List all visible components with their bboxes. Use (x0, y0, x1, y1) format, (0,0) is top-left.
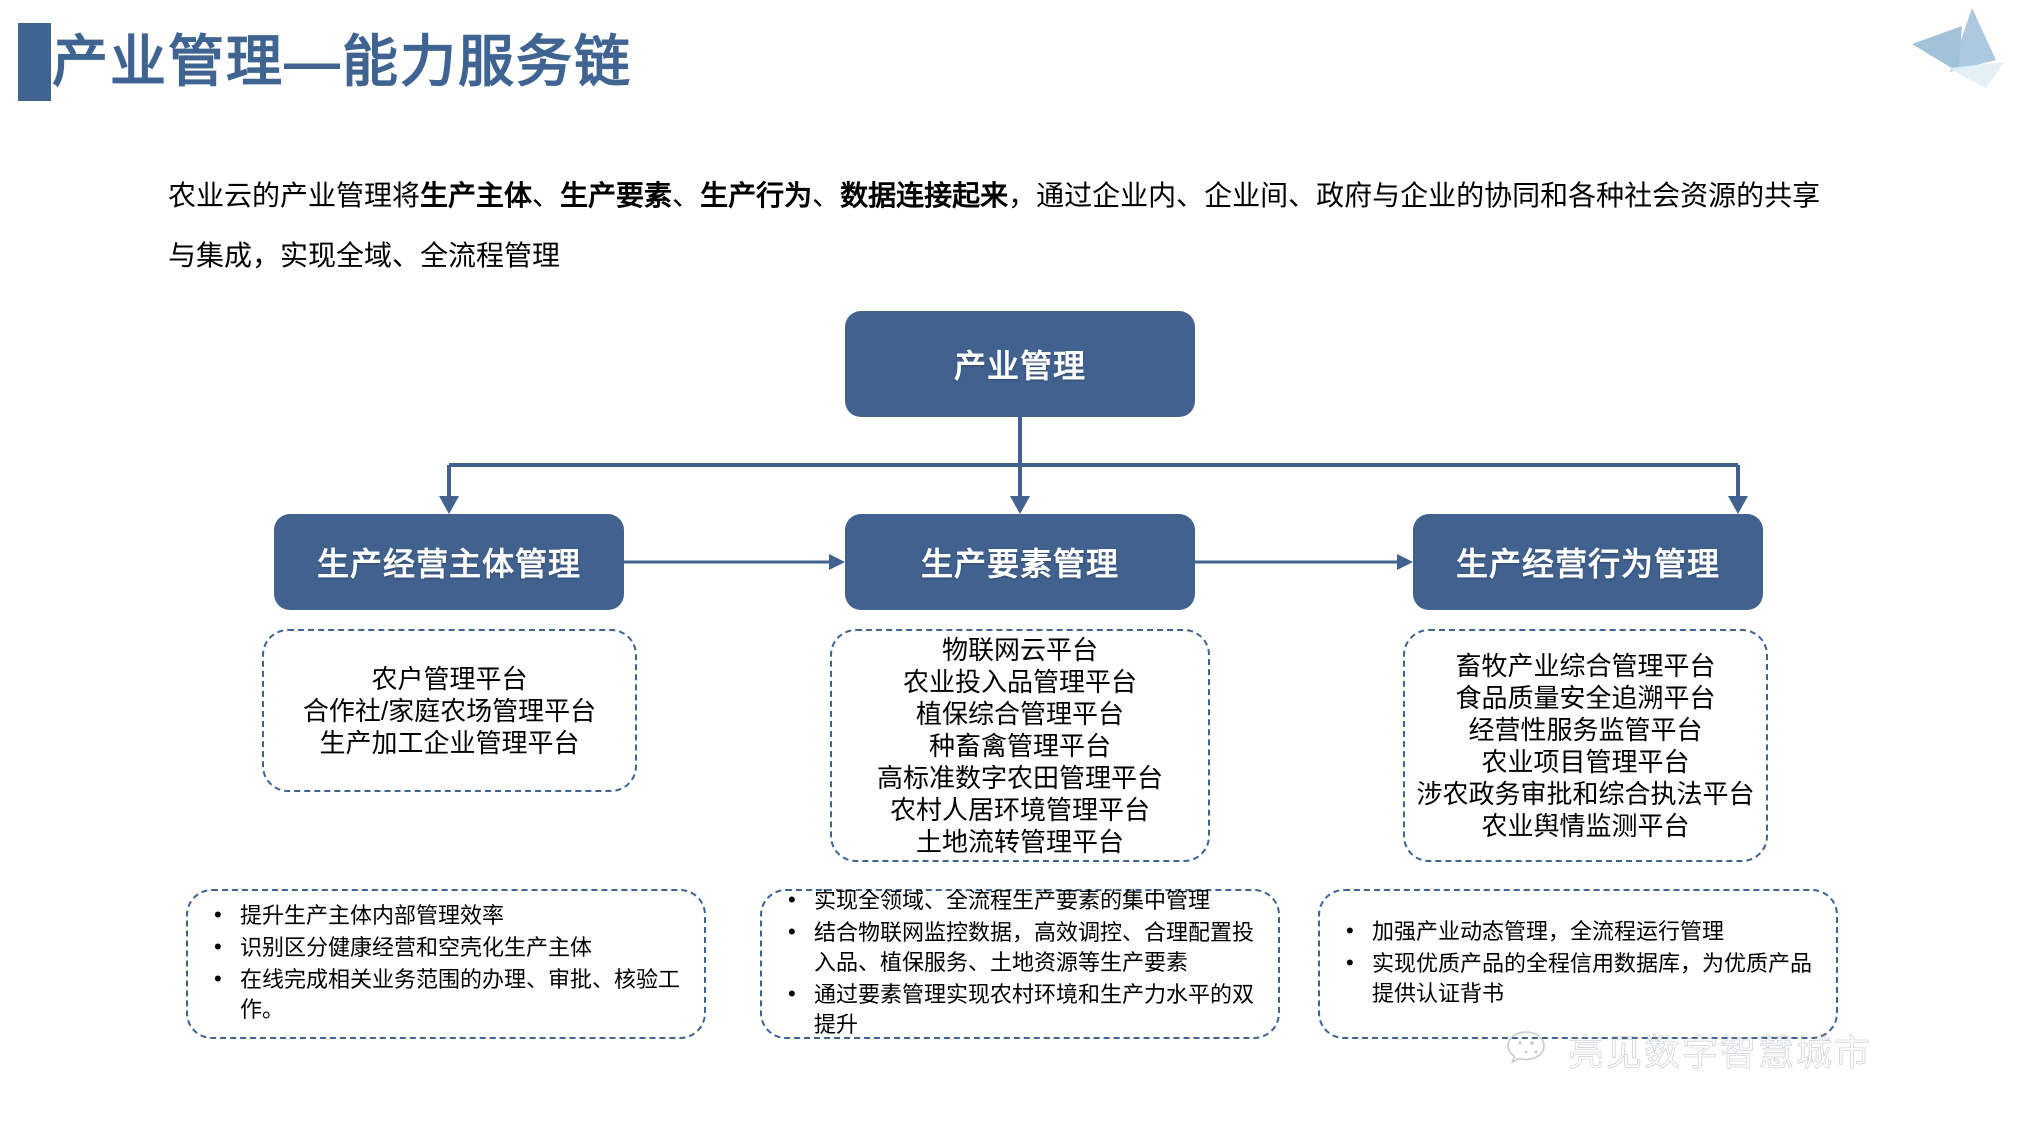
platform-item: 涉农政务审批和综合执法平台 (1416, 778, 1754, 810)
intro-segment-1: 农业云的产业管理将 (168, 180, 420, 211)
slide-canvas: 产业管理—能力服务链 农业云的产业管理将生产主体、生产要素、生产行为、数据连接起… (0, 0, 2026, 1140)
benefit-item: 实现优质产品的全程信用数据库，为优质产品提供认证背书 (1330, 949, 1822, 1009)
title-accent-bar (18, 23, 51, 101)
wechat-icon (1506, 1027, 1558, 1073)
watermark: 亮见数字智慧城市 (1506, 1024, 1872, 1076)
intro-bold-2: 生产要素 (560, 180, 672, 211)
benefit-item: 加强产业动态管理，全流程运行管理 (1330, 917, 1822, 947)
decorative-triangles-logo (1900, 2, 2020, 88)
platform-item: 畜牧产业综合管理平台 (1455, 650, 1715, 682)
benefits-panel-behavior: 加强产业动态管理，全流程运行管理 实现优质产品的全程信用数据库，为优质产品提供认… (1318, 889, 1838, 1039)
platform-item: 农业项目管理平台 (1481, 746, 1689, 778)
platform-item: 土地流转管理平台 (916, 826, 1124, 858)
platform-item: 农村人居环境管理平台 (890, 794, 1150, 826)
node-production-factor-management[interactable]: 生产要素管理 (845, 514, 1195, 610)
platform-item: 植保综合管理平台 (916, 698, 1124, 730)
platform-panel-factor: 物联网云平台 农业投入品管理平台 植保综合管理平台 种畜禽管理平台 高标准数字农… (830, 629, 1210, 862)
platform-item: 农业舆情监测平台 (1481, 810, 1689, 842)
node-production-behavior-management[interactable]: 生产经营行为管理 (1413, 514, 1763, 610)
platform-item: 食品质量安全追溯平台 (1455, 682, 1715, 714)
intro-sep-1: 、 (532, 180, 560, 211)
benefit-item: 在线完成相关业务范围的办理、审批、核验工作。 (198, 965, 690, 1025)
intro-sep-3: 、 (812, 180, 840, 211)
node-root-industry-management[interactable]: 产业管理 (845, 311, 1195, 417)
platform-item: 农业投入品管理平台 (903, 666, 1137, 698)
benefits-panel-factor: 实现全领域、全流程生产要素的集中管理 结合物联网监控数据，高效调控、合理配置投入… (760, 889, 1280, 1039)
platform-item: 农户管理平台 (371, 663, 527, 695)
platform-item: 生产加工企业管理平台 (319, 727, 579, 759)
platform-panel-entity: 农户管理平台 合作社/家庭农场管理平台 生产加工企业管理平台 (262, 629, 637, 792)
intro-sep-2: 、 (672, 180, 700, 211)
benefit-item: 通过要素管理实现农村环境和生产力水平的双提升 (772, 980, 1264, 1040)
platform-item: 合作社/家庭农场管理平台 (303, 695, 596, 727)
platform-panel-behavior: 畜牧产业综合管理平台 食品质量安全追溯平台 经营性服务监管平台 农业项目管理平台… (1403, 629, 1768, 862)
intro-bold-1: 生产主体 (420, 180, 532, 211)
node-production-entity-management[interactable]: 生产经营主体管理 (274, 514, 624, 610)
intro-bold-4: 数据连接起来 (840, 180, 1008, 211)
benefits-panel-entity: 提升生产主体内部管理效率 识别区分健康经营和空壳化生产主体 在线完成相关业务范围… (186, 889, 706, 1039)
platform-item: 种畜禽管理平台 (929, 730, 1111, 762)
page-title: 产业管理—能力服务链 (52, 24, 632, 100)
benefit-item: 提升生产主体内部管理效率 (198, 901, 690, 931)
benefit-item: 结合物联网监控数据，高效调控、合理配置投入品、植保服务、土地资源等生产要素 (772, 918, 1264, 978)
platform-item: 高标准数字农田管理平台 (877, 762, 1163, 794)
benefit-item: 实现全领域、全流程生产要素的集中管理 (772, 886, 1264, 916)
platform-item: 经营性服务监管平台 (1468, 714, 1702, 746)
watermark-text: 亮见数字智慧城市 (1568, 1024, 1872, 1076)
intro-paragraph: 农业云的产业管理将生产主体、生产要素、生产行为、数据连接起来，通过企业内、企业间… (168, 166, 1838, 286)
benefit-item: 识别区分健康经营和空壳化生产主体 (198, 933, 690, 963)
platform-item: 物联网云平台 (942, 634, 1098, 666)
intro-bold-3: 生产行为 (700, 180, 812, 211)
